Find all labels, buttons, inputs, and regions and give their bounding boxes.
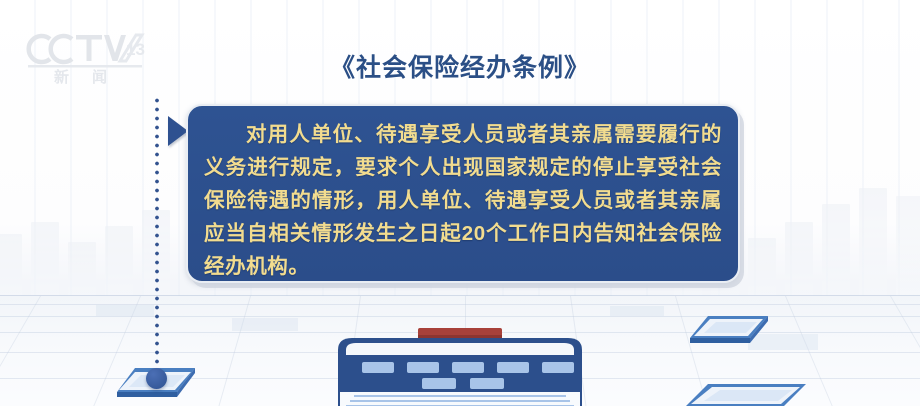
broadcast-graphic-stage: 13 新闻 《社会保险经办条例》 对用人单位、待遇享受人员或者其亲属需要履行的义…: [0, 0, 920, 406]
background-bar: [68, 242, 96, 296]
dotted-connector-line: [155, 96, 159, 382]
callout-box: 对用人单位、待遇享受人员或者其亲属需要履行的义务进行规定，要求个人出现国家规定的…: [186, 104, 740, 283]
background-bar: [822, 204, 850, 296]
platform-tile-right-upper: [690, 314, 768, 346]
background-bar: [105, 226, 133, 296]
background-bar: [748, 238, 776, 296]
background-bar: [896, 196, 920, 296]
callout-body-text: 对用人单位、待遇享受人员或者其亲属需要履行的义务进行规定，要求个人出现国家规定的…: [204, 118, 722, 283]
connector-node-dot: [146, 368, 167, 389]
background-bar: [0, 234, 22, 296]
page-title: 《社会保险经办条例》: [0, 48, 920, 84]
background-bar: [31, 222, 59, 296]
background-bar: [785, 222, 813, 296]
background-bar: [859, 188, 887, 296]
document-clipboard: [310, 328, 610, 406]
background-bars-left: [0, 166, 170, 296]
callout-arrow-icon: [168, 116, 188, 146]
platform-tile-right-lower: [686, 382, 806, 406]
